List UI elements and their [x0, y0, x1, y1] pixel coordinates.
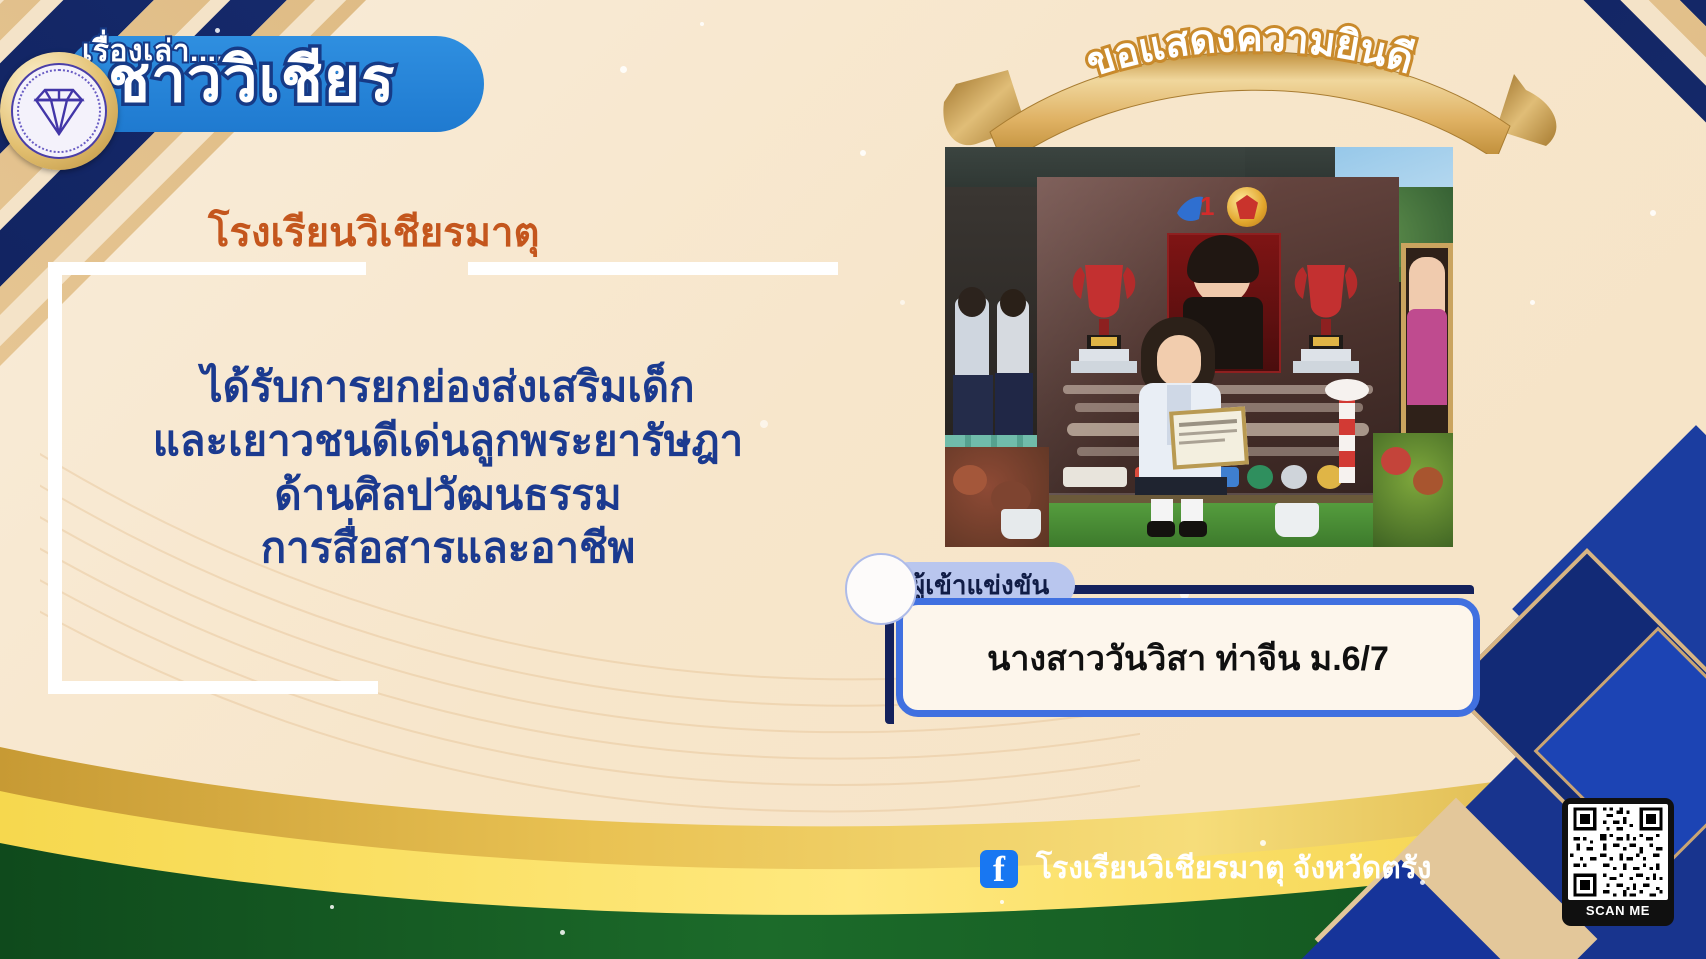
school-emblem-icon [0, 52, 118, 170]
message-line-3: ด้านศิลปวัฒนธรรม [58, 468, 838, 522]
message-line-4: การสื่อสารและอาชีพ [58, 521, 838, 575]
qr-code-image [1568, 804, 1668, 900]
qr-label: SCAN ME [1568, 903, 1668, 918]
participant-circle-dot [845, 553, 917, 625]
facebook-icon[interactable] [980, 850, 1018, 888]
award-message: ได้รับการยกย่องส่งเสริมเด็ก และเยาวชนดีเ… [58, 360, 838, 575]
svg-text:1: 1 [1200, 191, 1214, 221]
message-line-1: ได้รับการยกย่องส่งเสริมเด็ก [58, 360, 838, 414]
footer: โรงเรียนวิเชียรมาตุ จังหวัดตรัง [980, 845, 1432, 892]
qr-code[interactable]: SCAN ME [1562, 798, 1674, 926]
award-photo: 1 [945, 147, 1453, 547]
header-title: ชาววิเชียร [108, 50, 395, 112]
participant-name: นางสาววันวิสา ท่าจีน ม.6/7 [987, 631, 1389, 685]
message-line-2: และเยาวชนดีเด่นลูกพระยารัษฎา [58, 414, 838, 468]
participant-name-box: นางสาววันวิสา ท่าจีน ม.6/7 [896, 598, 1480, 717]
page-title: โรงเรียนวิเชียรมาตุ [208, 200, 539, 264]
poster-canvas: เรื่องเล่า.... ชาววิเชียร [0, 0, 1706, 959]
footer-text: โรงเรียนวิเชียรมาตุ จังหวัดตรัง [1036, 845, 1432, 892]
congratulations-ribbon: ขอแสดงความยินดี [930, 4, 1570, 154]
